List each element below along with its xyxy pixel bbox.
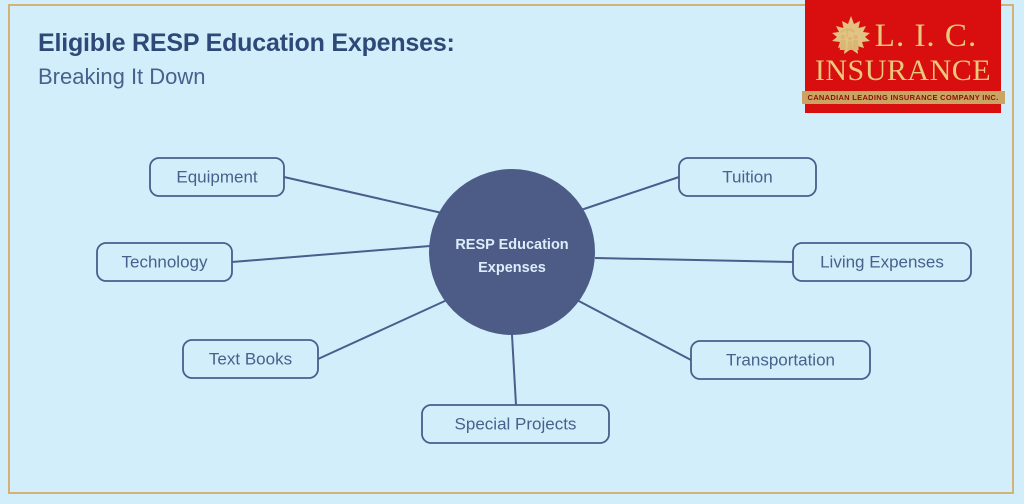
node-label: Transportation [726, 350, 835, 369]
company-logo: L. I. C. INSURANCE CANADIAN LEADING INSU… [805, 0, 1001, 113]
logo-primary-row: L. I. C. [805, 13, 1001, 59]
logo-tagline: CANADIAN LEADING INSURANCE COMPANY INC. [802, 91, 1005, 104]
logo-wordmark: INSURANCE [815, 56, 991, 86]
maple-leaf-family-icon [829, 15, 873, 57]
connector-line-technology [232, 246, 430, 262]
logo-lic-text: L. I. C. [875, 20, 977, 53]
connector-line-equipment [284, 177, 442, 213]
node-label: Text Books [209, 349, 292, 368]
connector-line-special-projects [512, 335, 516, 405]
node-transportation[interactable]: Transportation [691, 341, 870, 379]
page-subtitle: Breaking It Down [38, 63, 455, 92]
node-label: Equipment [176, 167, 258, 186]
connector-line-living-expenses [595, 258, 793, 262]
connector-line-text-books [318, 300, 447, 359]
hub-label-line1: RESP Education [455, 237, 568, 253]
node-tuition[interactable]: Tuition [679, 158, 816, 196]
node-label: Tuition [722, 167, 772, 186]
node-label: Living Expenses [820, 252, 944, 271]
node-technology[interactable]: Technology [97, 243, 232, 281]
connector-line-transportation [575, 299, 691, 360]
node-label: Technology [121, 252, 208, 271]
header-block: Eligible RESP Education Expenses: Breaki… [38, 28, 455, 92]
node-label: Special Projects [455, 414, 577, 433]
hub-node: RESP Education Expenses [429, 169, 595, 335]
infographic-canvas: Eligible RESP Education Expenses: Breaki… [0, 0, 1024, 504]
connector-line-tuition [578, 177, 679, 211]
node-living-expenses[interactable]: Living Expenses [793, 243, 971, 281]
node-special-projects[interactable]: Special Projects [422, 405, 609, 443]
node-text-books[interactable]: Text Books [183, 340, 318, 378]
node-equipment[interactable]: Equipment [150, 158, 284, 196]
hub-label-line2: Expenses [478, 260, 546, 276]
page-title: Eligible RESP Education Expenses: [38, 28, 455, 59]
